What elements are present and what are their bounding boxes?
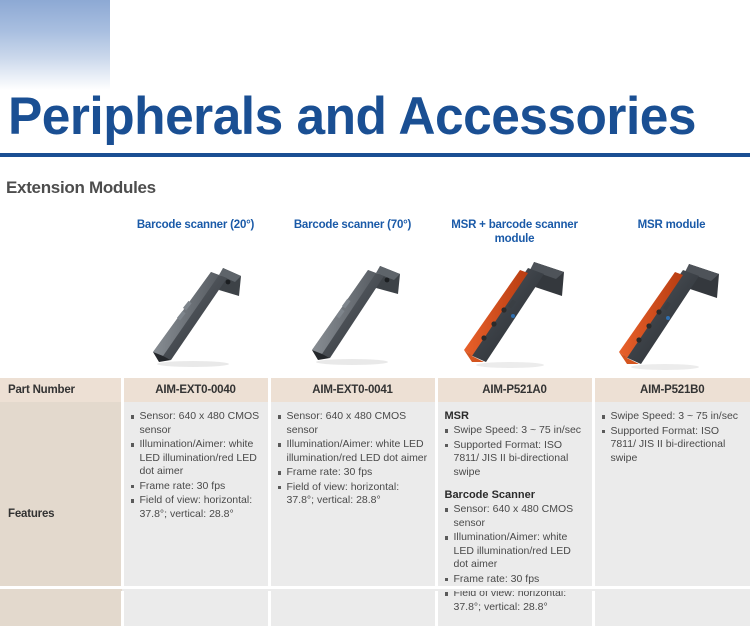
product-gallery: Barcode scanner (20°) [0, 210, 750, 378]
product-cell-barcode-scanner-70: Barcode scanner (70°) [269, 210, 436, 378]
list-item: Sensor: 640 x 480 CMOS sensor [129, 410, 261, 437]
features-cell-1: Sensor: 640 x 480 CMOS sensor Illuminati… [122, 402, 269, 626]
product-label-1: Barcode scanner (20°) [133, 210, 258, 248]
list-item: Illumination/Aimer: white LED illuminati… [129, 438, 261, 479]
product-label-2: Barcode scanner (70°) [290, 210, 415, 248]
list-item: Supported Format: ISO 7811/ JIS II bi-di… [600, 425, 744, 466]
section-heading: Extension Modules [6, 178, 156, 198]
feature-list-2: Sensor: 640 x 480 CMOS sensor Illuminati… [276, 410, 428, 508]
gallery-left-spacer [0, 210, 122, 378]
product-cell-msr-module: MSR module [593, 210, 750, 378]
corner-gradient-decoration [0, 0, 110, 90]
list-item: Sensor: 640 x 480 CMOS sensor [443, 503, 585, 530]
features-cell-3: MSR Swipe Speed: 3 ~ 75 in/sec Supported… [436, 402, 593, 626]
part-number-cell-4: AIM-P521B0 [593, 378, 750, 402]
list-item: Frame rate: 30 fps [276, 466, 428, 480]
part-number-cell-1: AIM-EXT0-0040 [122, 378, 269, 402]
part-number-cell-2: AIM-EXT0-0041 [269, 378, 436, 402]
list-item: Field of view: horizontal: 37.8°; vertic… [276, 481, 428, 508]
list-item: Sensor: 640 x 480 CMOS sensor [276, 410, 428, 437]
page-title: Peripherals and Accessories [8, 88, 720, 146]
list-item: Illumination/Aimer: white LED illuminati… [276, 438, 428, 465]
feature-list-3-msr: Swipe Speed: 3 ~ 75 in/sec Supported For… [443, 424, 585, 479]
list-item: Frame rate: 30 fps [443, 573, 585, 587]
list-item: Frame rate: 30 fps [129, 480, 261, 494]
product-image-msr-module-icon [607, 252, 737, 370]
product-cell-barcode-scanner-20: Barcode scanner (20°) [122, 210, 269, 378]
list-item: Swipe Speed: 3 ~ 75 in/sec [443, 424, 585, 438]
list-item: Field of view: horizontal: 37.8°; vertic… [129, 494, 261, 521]
feature-group-heading-msr: MSR [445, 410, 585, 422]
table-row-features: Features Sensor: 640 x 480 CMOS sensor I… [0, 402, 750, 626]
product-label-3: MSR + barcode scanner module [436, 210, 593, 248]
features-cell-2: Sensor: 640 x 480 CMOS sensor Illuminati… [269, 402, 436, 626]
feature-group-heading-barcode-scanner: Barcode Scanner [445, 489, 585, 501]
product-cell-msr-barcode-module: MSR + barcode scanner module [436, 210, 593, 378]
feature-list-4: Swipe Speed: 3 ~ 75 in/sec Supported For… [600, 410, 744, 465]
title-underline-rule [0, 153, 750, 157]
features-cell-4: Swipe Speed: 3 ~ 75 in/sec Supported For… [593, 402, 750, 626]
product-image-barcode-scanner-20-icon [131, 252, 261, 370]
part-number-cell-3: AIM-P521A0 [436, 378, 593, 402]
list-item: Illumination/Aimer: white LED illuminati… [443, 531, 585, 572]
row-label-features: Features [0, 402, 122, 626]
product-image-msr-barcode-module-icon [450, 252, 580, 370]
list-item: Supported Format: ISO 7811/ JIS II bi-di… [443, 439, 585, 480]
feature-list-3-barcode: Sensor: 640 x 480 CMOS sensor Illuminati… [443, 503, 585, 614]
list-item: Swipe Speed: 3 ~ 75 in/sec [600, 410, 744, 424]
product-image-barcode-scanner-70-icon [288, 252, 418, 370]
row-label-part-number: Part Number [0, 378, 122, 402]
product-label-4: MSR module [634, 210, 710, 248]
feature-list-1: Sensor: 640 x 480 CMOS sensor Illuminati… [129, 410, 261, 521]
table-row-part-number: Part Number AIM-EXT0-0040 AIM-EXT0-0041 … [0, 378, 750, 402]
list-item: Field of view: horizontal: 37.8°; vertic… [443, 587, 585, 614]
